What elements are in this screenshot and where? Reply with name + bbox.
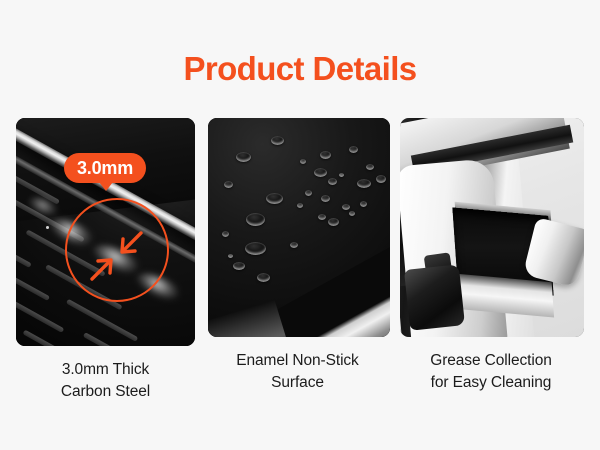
water-droplet: [305, 190, 312, 196]
water-droplet: [366, 164, 374, 170]
thickness-photo: 3.0mm: [16, 118, 195, 346]
caption-thickness: 3.0mm Thick Carbon Steel: [8, 359, 203, 403]
water-droplet: [300, 159, 306, 164]
grate-slot: [23, 329, 81, 346]
water-droplet: [376, 175, 386, 183]
water-droplet: [245, 242, 266, 255]
water-droplet: [290, 242, 298, 248]
water-droplet: [297, 203, 303, 208]
caption-grease: Grease Collection for Easy Cleaning: [392, 350, 590, 394]
water-droplet: [349, 146, 358, 153]
grate-slot: [83, 332, 153, 346]
water-droplet: [222, 231, 229, 237]
caption-line-2: for Easy Cleaning: [392, 372, 590, 394]
grate-slot: [66, 299, 139, 342]
grate-slot: [16, 296, 65, 332]
water-droplet: [318, 214, 326, 220]
water-droplet: [233, 262, 245, 270]
water-droplet: [328, 178, 337, 185]
product-details-infographic: Product Details: [0, 0, 600, 450]
feature-card-thickness[interactable]: 3.0mm: [16, 118, 195, 346]
feature-card-enamel[interactable]: [208, 118, 390, 337]
water-droplet: [314, 168, 327, 177]
measurement-arrows: [65, 198, 169, 302]
caption-line-1: Grease Collection: [430, 352, 552, 369]
caption-enamel: Enamel Non-Stick Surface: [200, 350, 395, 394]
caption-line-2: Surface: [200, 372, 395, 394]
water-droplet: [246, 213, 265, 226]
thickness-badge: 3.0mm: [64, 153, 146, 183]
water-droplet: [228, 254, 233, 258]
feature-card-row: 3.0mm: [16, 118, 584, 348]
page-title: Product Details: [0, 50, 600, 88]
water-droplet: [360, 201, 367, 207]
water-droplet: [349, 211, 355, 216]
water-droplet: [271, 136, 284, 145]
grease-tray-photo: [400, 118, 584, 337]
water-droplet: [257, 273, 270, 282]
water-droplet: [339, 173, 344, 177]
caption-line-2: Carbon Steel: [8, 381, 203, 403]
water-droplet: [224, 181, 233, 188]
water-droplet: [342, 204, 350, 210]
water-droplet: [320, 151, 331, 159]
control-knob[interactable]: [404, 264, 465, 331]
water-droplet: [266, 193, 283, 204]
water-droplet: [328, 218, 339, 226]
water-droplet: [357, 179, 371, 188]
feature-card-grease[interactable]: [400, 118, 584, 337]
water-droplet: [236, 152, 251, 162]
arrows-svg: [65, 198, 169, 302]
caption-line-1: Enamel Non-Stick: [236, 352, 358, 369]
surface-speck: [46, 226, 49, 229]
caption-line-1: 3.0mm Thick: [62, 361, 149, 378]
water-droplet: [321, 195, 330, 202]
enamel-photo: [208, 118, 390, 337]
